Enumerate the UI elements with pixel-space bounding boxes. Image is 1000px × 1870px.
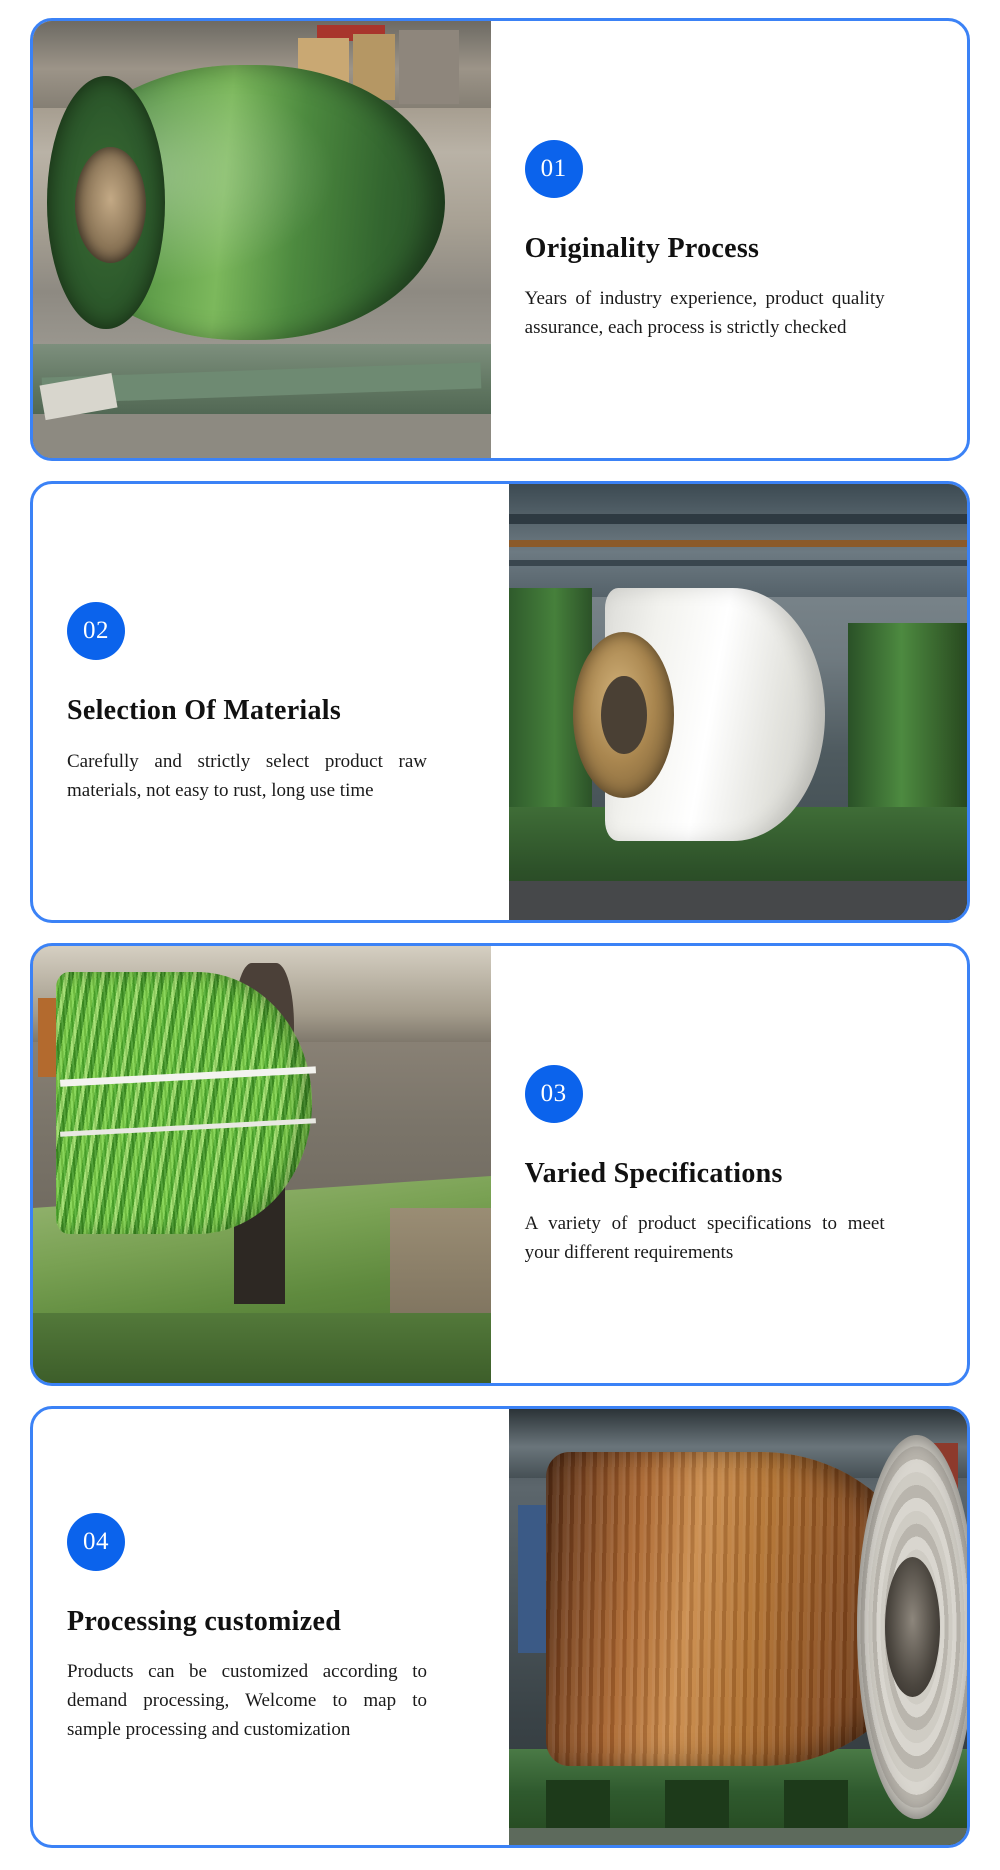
rack-slot (546, 1780, 610, 1832)
feature-card-03: 03 Varied Specifications A variety of pr… (30, 943, 970, 1386)
feature-cards-page: 01 Originality Process Years of industry… (0, 0, 1000, 1870)
card-description: A variety of product specifications to m… (525, 1210, 885, 1268)
step-number-badge: 04 (67, 1513, 125, 1571)
card-content: 02 Selection Of Materials Carefully and … (33, 484, 509, 921)
white-coil-uncoiler-photo (509, 484, 967, 921)
roof-beam (509, 540, 967, 547)
roof-beam (509, 560, 967, 566)
concrete-floor (33, 414, 491, 458)
card-content: 04 Processing customized Products can be… (33, 1409, 509, 1846)
rack-slot (665, 1780, 729, 1832)
feature-card-02: 02 Selection Of Materials Carefully and … (30, 481, 970, 924)
feature-card-04: 04 Processing customized Products can be… (30, 1406, 970, 1849)
card-title: Originality Process (525, 232, 933, 266)
green-steel-coil-photo (33, 21, 491, 458)
step-number-badge: 01 (525, 140, 583, 198)
photo-canvas (509, 1409, 967, 1846)
photo-canvas (33, 21, 491, 458)
machine-base (33, 1313, 491, 1383)
card-title: Processing customized (67, 1605, 475, 1639)
steel-coil-body (51, 65, 445, 340)
uncoiler-hub-center (601, 676, 647, 755)
step-number-badge: 03 (525, 1065, 583, 1123)
grass-pattern-coil-photo (33, 946, 491, 1383)
card-description: Carefully and strictly select product ra… (67, 748, 427, 806)
card-content: 03 Varied Specifications A variety of pr… (491, 946, 967, 1383)
coil-core-hole (885, 1557, 940, 1697)
wood-grain-coil-photo (509, 1409, 967, 1846)
factory-floor (509, 1828, 967, 1845)
card-title: Varied Specifications (525, 1157, 933, 1191)
step-number-badge: 02 (67, 602, 125, 660)
card-description: Years of industry experience, product qu… (525, 285, 885, 343)
grass-coil-body (56, 972, 312, 1234)
factory-floor (509, 881, 967, 920)
rack-slot (784, 1780, 848, 1832)
card-title: Selection Of Materials (67, 694, 475, 728)
roof-beam (509, 514, 967, 524)
coil-core-hole (75, 147, 146, 262)
photo-canvas (509, 484, 967, 921)
feature-card-01: 01 Originality Process Years of industry… (30, 18, 970, 461)
photo-canvas (33, 946, 491, 1383)
carton-box (399, 30, 458, 104)
card-content: 01 Originality Process Years of industry… (491, 21, 967, 458)
card-description: Products can be customized according to … (67, 1658, 427, 1745)
